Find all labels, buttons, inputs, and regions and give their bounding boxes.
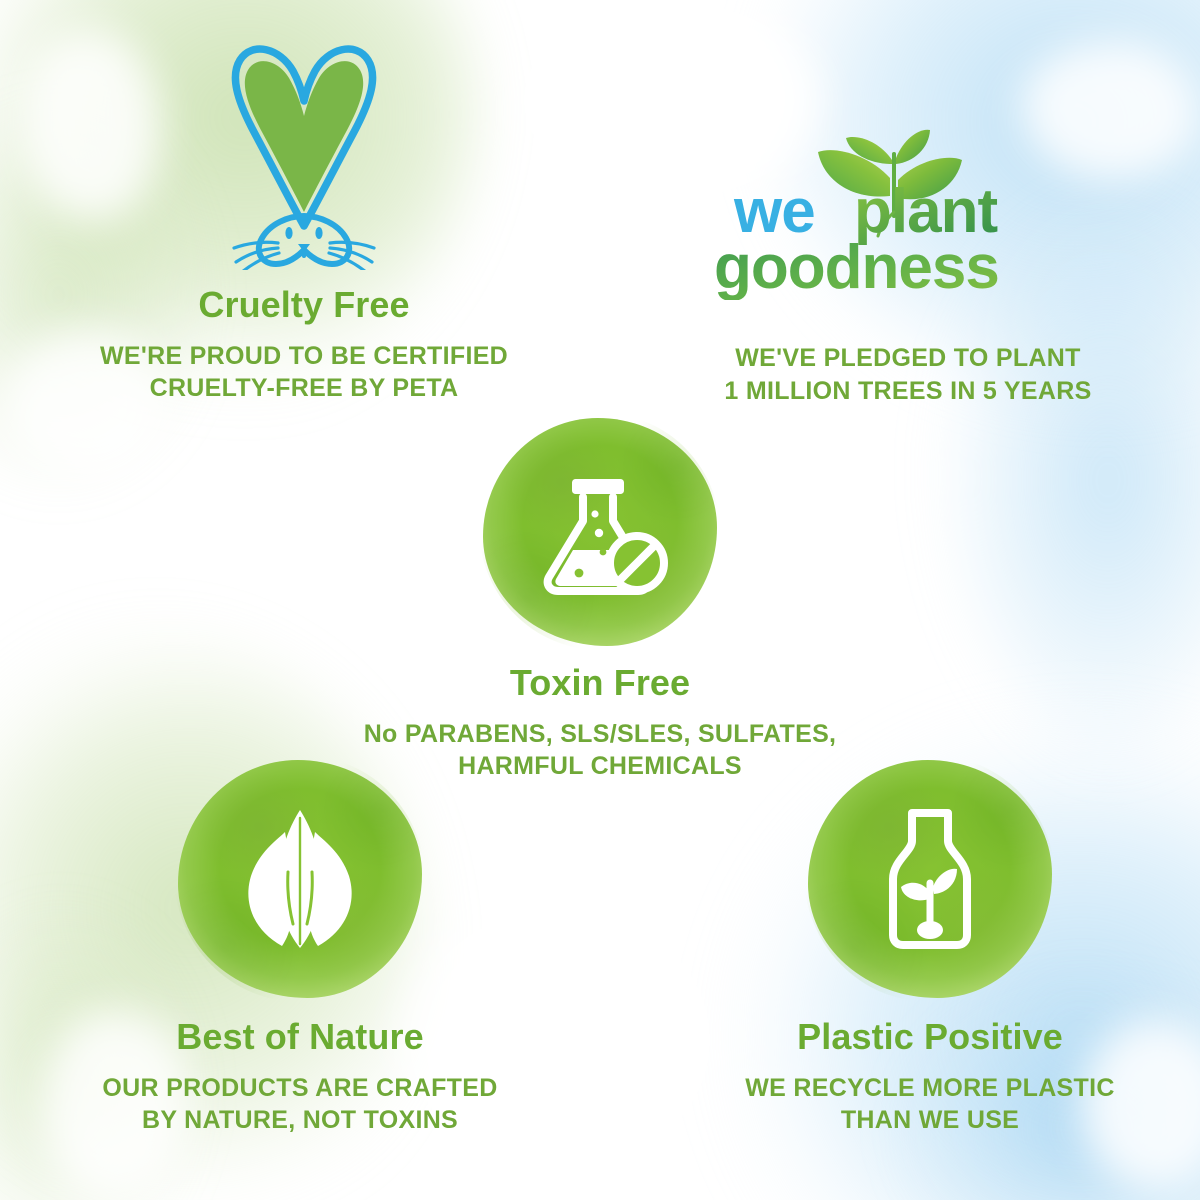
brand-values-infographic: Cruelty Free WE'RE PROUD TO BE CERTIFIED… (0, 0, 1200, 1200)
badge-description-line: WE'VE PLEDGED TO PLANT (638, 342, 1178, 375)
badge-description-line: WE RECYCLE MORE PLASTIC (660, 1072, 1200, 1105)
badge-description-plastic-positive: WE RECYCLE MORE PLASTIC THAN WE USE (660, 1072, 1200, 1137)
badge-title-toxin-free: Toxin Free (330, 664, 870, 702)
badge-description-we-plant-goodness: WE'VE PLEDGED TO PLANT 1 MILLION TREES I… (638, 342, 1178, 407)
badge-description-line: THAN WE USE (660, 1104, 1200, 1137)
badge-title-plastic-positive: Plastic Positive (660, 1018, 1200, 1056)
badge-description-cruelty-free: WE'RE PROUD TO BE CERTIFIED CRUELTY-FREE… (28, 340, 580, 405)
bottle-icon (855, 799, 1005, 959)
badge-cruelty-free: Cruelty Free WE'RE PROUD TO BE CERTIFIED… (28, 30, 580, 405)
badge-plastic-positive: Plastic Positive WE RECYCLE MORE PLASTIC… (660, 760, 1200, 1137)
bottle-with-sprout-icon (808, 760, 1052, 998)
badge-description-line: 1 MILLION TREES IN 5 YEARS (638, 375, 1178, 408)
badge-title-best-of-nature: Best of Nature (20, 1018, 580, 1056)
peta-cruelty-free-bunny-logo (204, 30, 404, 270)
badge-we-plant-goodness: we plant goodness WE'VE PLEDGED TO PLANT… (638, 120, 1178, 407)
badge-description-line: OUR PRODUCTS ARE CRAFTED (20, 1072, 580, 1105)
badge-description-best-of-nature: OUR PRODUCTS ARE CRAFTED BY NATURE, NOT … (20, 1072, 580, 1137)
badge-description-line: WE'RE PROUD TO BE CERTIFIED (28, 340, 580, 373)
flask-no-toxins-icon (483, 418, 717, 646)
leaves-icon (219, 798, 381, 960)
bunny-heart-icon (204, 30, 404, 270)
badge-toxin-free: Toxin Free No PARABENS, SLS/SLES, SULFAT… (330, 418, 870, 783)
badge-description-line: BY NATURE, NOT TOXINS (20, 1104, 580, 1137)
badge-description-line: No PARABENS, SLS/SLES, SULFATES, (330, 718, 870, 751)
svg-text:goodness: goodness (714, 233, 999, 300)
badge-best-of-nature: Best of Nature OUR PRODUCTS ARE CRAFTED … (20, 760, 580, 1137)
badge-title-cruelty-free: Cruelty Free (28, 286, 580, 324)
sprout-logo-icon: we plant goodness (708, 120, 1108, 300)
badge-description-line: CRUELTY-FREE BY PETA (28, 372, 580, 405)
flask-icon (525, 457, 675, 607)
we-plant-goodness-sprout-logo: we plant goodness (708, 120, 1108, 300)
three-leaves-icon (178, 760, 422, 998)
